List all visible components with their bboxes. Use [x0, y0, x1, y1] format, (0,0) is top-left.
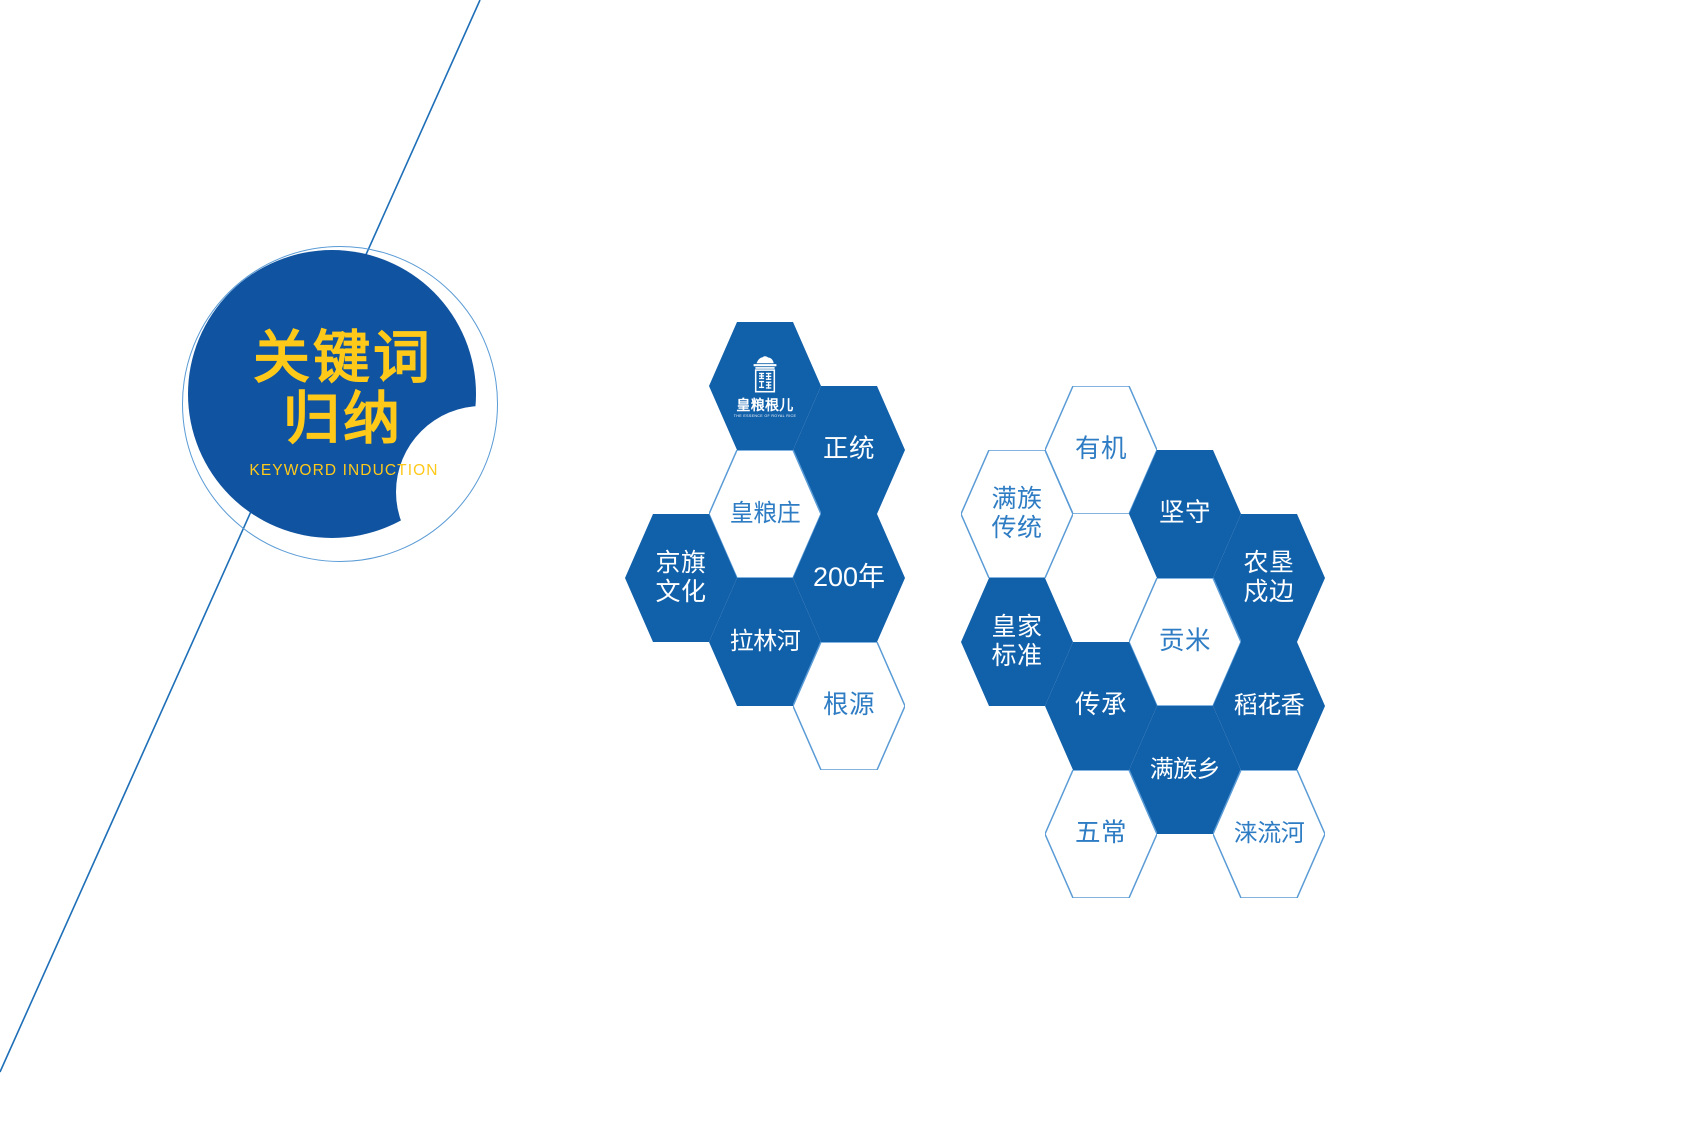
- hexagon-wuchang[interactable]: 五常: [1045, 770, 1157, 898]
- hexagon-lailiuhe[interactable]: 涞流河: [1213, 770, 1325, 898]
- hexagon-genyuan[interactable]: 根源: [793, 642, 905, 770]
- hexagon-manzuchuant[interactable]: 满族 传统: [961, 450, 1073, 578]
- hexagon-label: 根源: [793, 642, 905, 770]
- logo-english-tagline: THE ESSENCE OF ROYAL RICE: [734, 415, 796, 419]
- hexagon-label: 满族 传统: [961, 450, 1073, 578]
- slide-canvas: 关键词 归纳 KEYWORD INDUCTION: [0, 0, 1700, 1134]
- logo-chinese-name: 皇粮根儿: [736, 398, 793, 412]
- hexagon-label: 涞流河: [1213, 770, 1325, 898]
- keyword-hexagon-cluster: 皇粮根儿THE ESSENCE OF ROYAL RICE 正统 有机 皇粮庄 …: [0, 0, 1700, 1134]
- hexagon-label: 五常: [1045, 770, 1157, 898]
